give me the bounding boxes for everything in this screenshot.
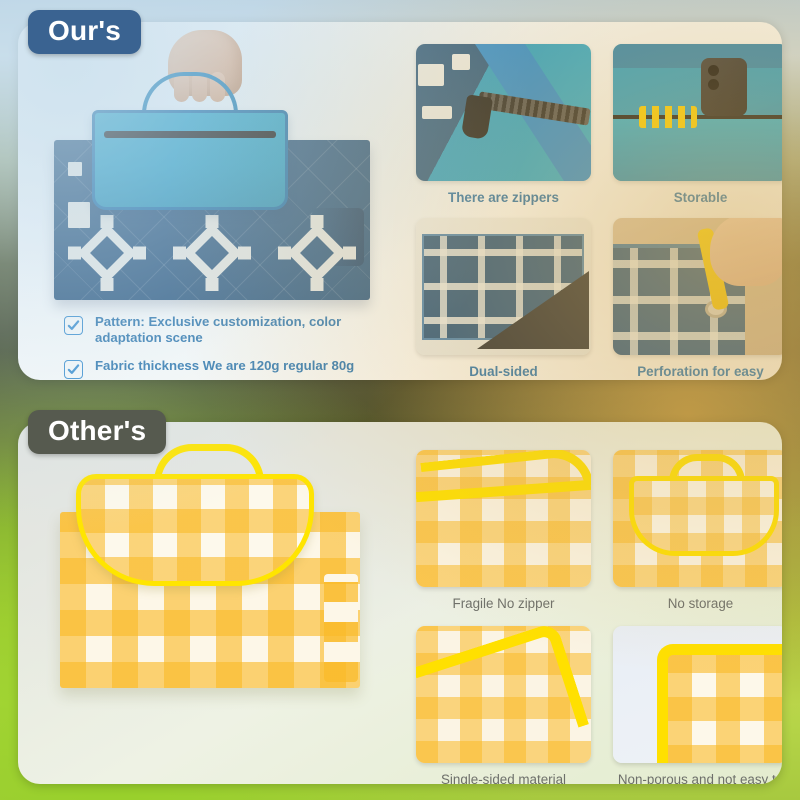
others-left-column: Unpatterned material, plastic toxic mate… — [18, 422, 410, 784]
list-item: Pattern: Exclusive customization, color … — [64, 314, 394, 346]
dual-sided-folded-corner-thumb — [416, 218, 591, 355]
teal-flap-pocket — [92, 110, 288, 210]
others-feature-grid: Fragile No zipper No storage — [416, 450, 782, 784]
check-icon — [64, 360, 83, 379]
feature-card: Non-porous and not easy to fix — [613, 626, 782, 784]
feature-card: Dual-sided — [416, 218, 591, 380]
feature-caption: Dual-sided — [416, 355, 591, 380]
feature-caption: Fragile No zipper — [416, 587, 591, 618]
grommet-peg-thumb — [613, 218, 782, 355]
feature-caption: Single-sided material — [416, 763, 591, 784]
no-storage-lid-thumb — [613, 450, 782, 587]
feature-card: Fragile No zipper — [416, 450, 591, 618]
gingham-flap — [76, 474, 314, 586]
fragile-strap-thumb — [416, 450, 591, 587]
others-panel: Unpatterned material, plastic toxic mate… — [18, 422, 782, 784]
feature-caption: No storage — [613, 587, 782, 618]
zipper-closeup-thumb — [416, 44, 591, 181]
feature-card: Storable — [613, 44, 782, 212]
feature-card: There are zippers — [416, 44, 591, 212]
others-hero-image — [54, 456, 384, 708]
feature-caption: Perforation for easy fixation — [613, 355, 782, 380]
feature-caption: Storable — [613, 181, 782, 212]
others-badge: Other's — [28, 410, 166, 454]
single-sided-corner-thumb — [416, 626, 591, 763]
ours-panel: Pattern: Exclusive customization, color … — [18, 22, 782, 380]
list-item-label: Fabric thickness We are 120g regular 80g — [95, 358, 354, 374]
feature-card: Single-sided material — [416, 626, 591, 784]
non-porous-swatch-thumb — [613, 626, 782, 763]
ours-bullet-list: Pattern: Exclusive customization, color … — [64, 314, 394, 379]
list-item-label: Pattern: Exclusive customization, color … — [95, 314, 394, 346]
check-icon — [64, 316, 83, 335]
ours-feature-grid: There are zippers Storable — [416, 44, 782, 380]
feature-card: Perforation for easy fixation — [613, 218, 782, 380]
zipper-icon — [104, 131, 276, 138]
feature-caption: There are zippers — [416, 181, 591, 212]
feature-caption: Non-porous and not easy to fix — [613, 763, 782, 784]
ours-badge: Our's — [28, 10, 141, 54]
others-panel-body: Unpatterned material, plastic toxic mate… — [18, 422, 782, 784]
ours-left-column: Pattern: Exclusive customization, color … — [18, 22, 410, 380]
list-item: Fabric thickness We are 120g regular 80g — [64, 358, 394, 379]
feature-card: No storage — [613, 450, 782, 618]
comparison-infographic: Pattern: Exclusive customization, color … — [0, 0, 800, 800]
ours-hero-image — [46, 62, 386, 310]
ours-panel-body: Pattern: Exclusive customization, color … — [18, 22, 782, 380]
storage-pocket-phone-thumb — [613, 44, 782, 181]
aztec-pattern — [54, 210, 370, 296]
